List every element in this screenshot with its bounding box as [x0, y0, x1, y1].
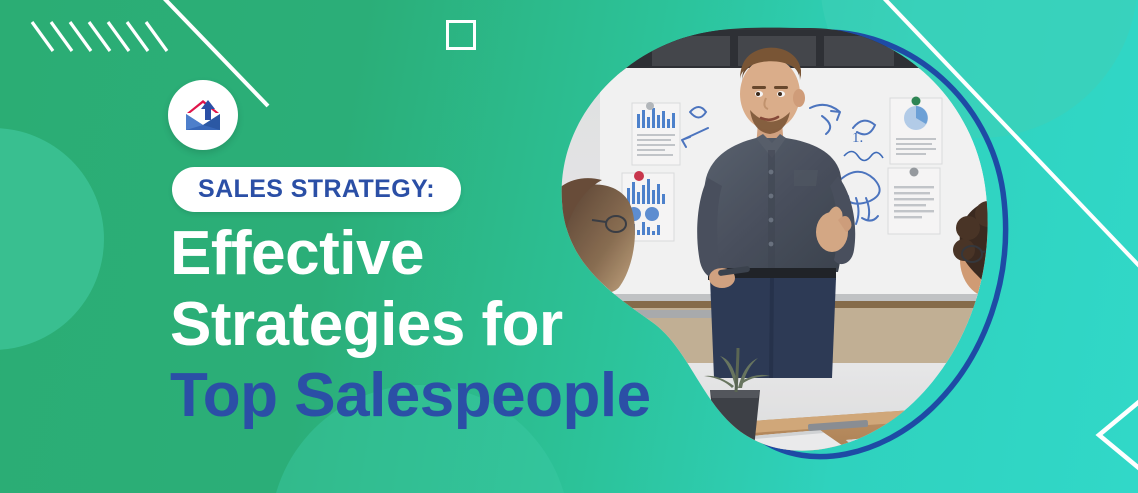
headline-line-3: Top Salespeople — [170, 360, 730, 431]
hatch-lines-icon — [30, 18, 175, 66]
page-title: Effective Strategies for Top Salespeople — [170, 218, 730, 431]
sales-strategy-banner: 1. — [0, 0, 1138, 493]
chevron-left-mark-icon — [1085, 395, 1138, 475]
eyebrow-badge: SALES STRATEGY: — [172, 167, 461, 212]
circle-left-edge — [0, 128, 104, 350]
envelope-arrow-logo — [168, 80, 238, 150]
eyebrow-badge-label: SALES STRATEGY: — [198, 175, 435, 204]
envelope-arrow-icon — [180, 92, 226, 138]
headline-line-2: Strategies for — [170, 289, 730, 360]
square-outline-icon — [446, 20, 476, 50]
headline-line-1: Effective — [170, 218, 730, 289]
